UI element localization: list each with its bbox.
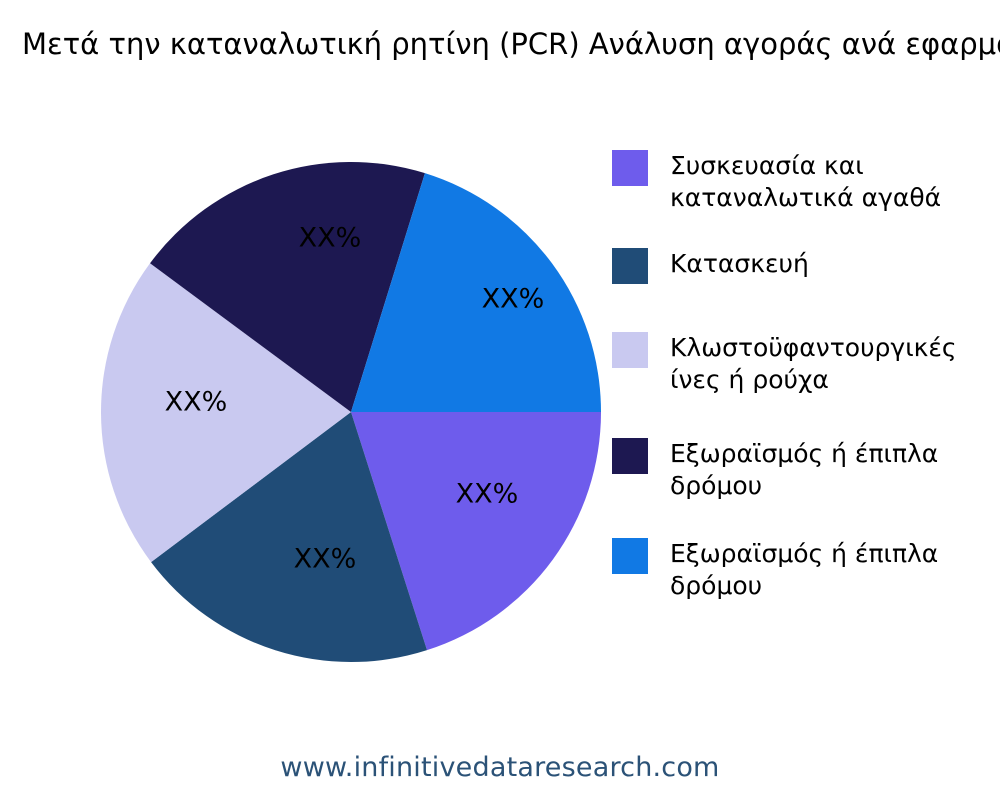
legend-color-swatch-icon xyxy=(612,438,648,474)
legend-color-swatch-icon xyxy=(612,150,648,186)
pie-slice-percent-label: XX% xyxy=(299,223,362,254)
legend-item-label: Συσκευασία και καταναλωτικά αγαθά xyxy=(670,150,941,214)
legend-item[interactable]: Κλωστοϋφαντουργικές ίνες ή ρούχα xyxy=(612,332,957,396)
pie-chart: XX%XX%XX%XX%XX% xyxy=(0,120,620,720)
legend-color-swatch-icon xyxy=(612,248,648,284)
pie-slice-percent-label: XX% xyxy=(482,284,545,315)
legend-color-swatch-icon xyxy=(612,332,648,368)
legend-item-label: Κλωστοϋφαντουργικές ίνες ή ρούχα xyxy=(670,332,957,396)
legend-item[interactable]: Εξωραϊσμός ή έπιπλα δρόμου xyxy=(612,438,938,502)
pie-chart-svg: XX%XX%XX%XX%XX% xyxy=(0,120,620,720)
pie-slice-percent-label: XX% xyxy=(456,479,519,510)
legend-item-label: Εξωραϊσμός ή έπιπλα δρόμου xyxy=(670,538,938,602)
legend-item[interactable]: Συσκευασία και καταναλωτικά αγαθά xyxy=(612,150,941,214)
legend-item-label: Εξωραϊσμός ή έπιπλα δρόμου xyxy=(670,438,938,502)
legend-color-swatch-icon xyxy=(612,538,648,574)
legend-item-label: Κατασκευή xyxy=(670,248,809,280)
pie-slice-percent-label: XX% xyxy=(294,544,357,575)
legend-item[interactable]: Εξωραϊσμός ή έπιπλα δρόμου xyxy=(612,538,938,602)
legend-item[interactable]: Κατασκευή xyxy=(612,248,809,284)
pie-slice-percent-label: XX% xyxy=(165,387,228,418)
chart-page: Μετά την καταναλωτική ρητίνη (PCR) Ανάλυ… xyxy=(0,0,1000,800)
page-title: Μετά την καταναλωτική ρητίνη (PCR) Ανάλυ… xyxy=(22,22,1000,67)
footer-website-url: www.infinitivedataresearch.com xyxy=(0,752,1000,783)
